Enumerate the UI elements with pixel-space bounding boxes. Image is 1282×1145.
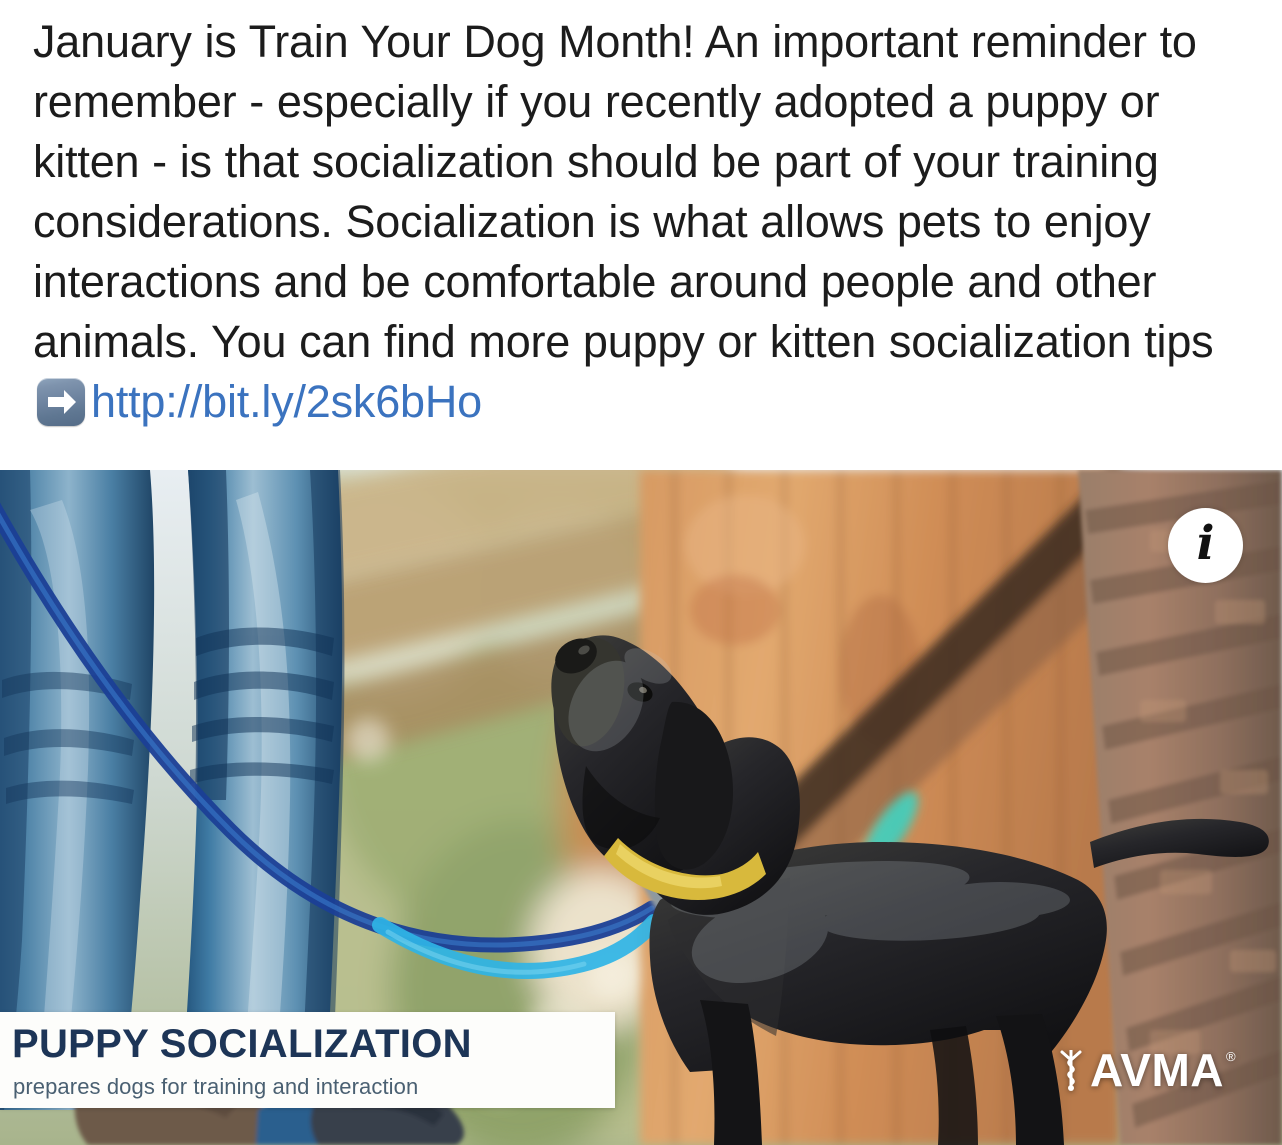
avma-watermark: AVMA ® bbox=[1054, 1048, 1236, 1092]
avma-caduceus-icon bbox=[1054, 1048, 1088, 1092]
overlay-headline: PUPPY SOCIALIZATION bbox=[12, 1022, 472, 1067]
overlay-subline: prepares dogs for training and interacti… bbox=[13, 1074, 418, 1100]
right-arrow-emoji bbox=[37, 378, 85, 426]
avma-trademark-symbol: ® bbox=[1226, 1048, 1236, 1066]
photo-overlay-caption: PUPPY SOCIALIZATION prepares dogs for tr… bbox=[0, 1012, 615, 1108]
post-link[interactable]: http://bit.ly/2sk6bHo bbox=[91, 376, 482, 427]
avma-wordmark: AVMA bbox=[1090, 1048, 1224, 1092]
info-badge[interactable]: i bbox=[1168, 508, 1243, 583]
post-caption: January is Train Your Dog Month! An impo… bbox=[33, 12, 1248, 432]
info-icon: i bbox=[1197, 520, 1215, 567]
social-post: January is Train Your Dog Month! An impo… bbox=[0, 0, 1282, 1145]
caption-body-text: January is Train Your Dog Month! An impo… bbox=[33, 16, 1213, 367]
